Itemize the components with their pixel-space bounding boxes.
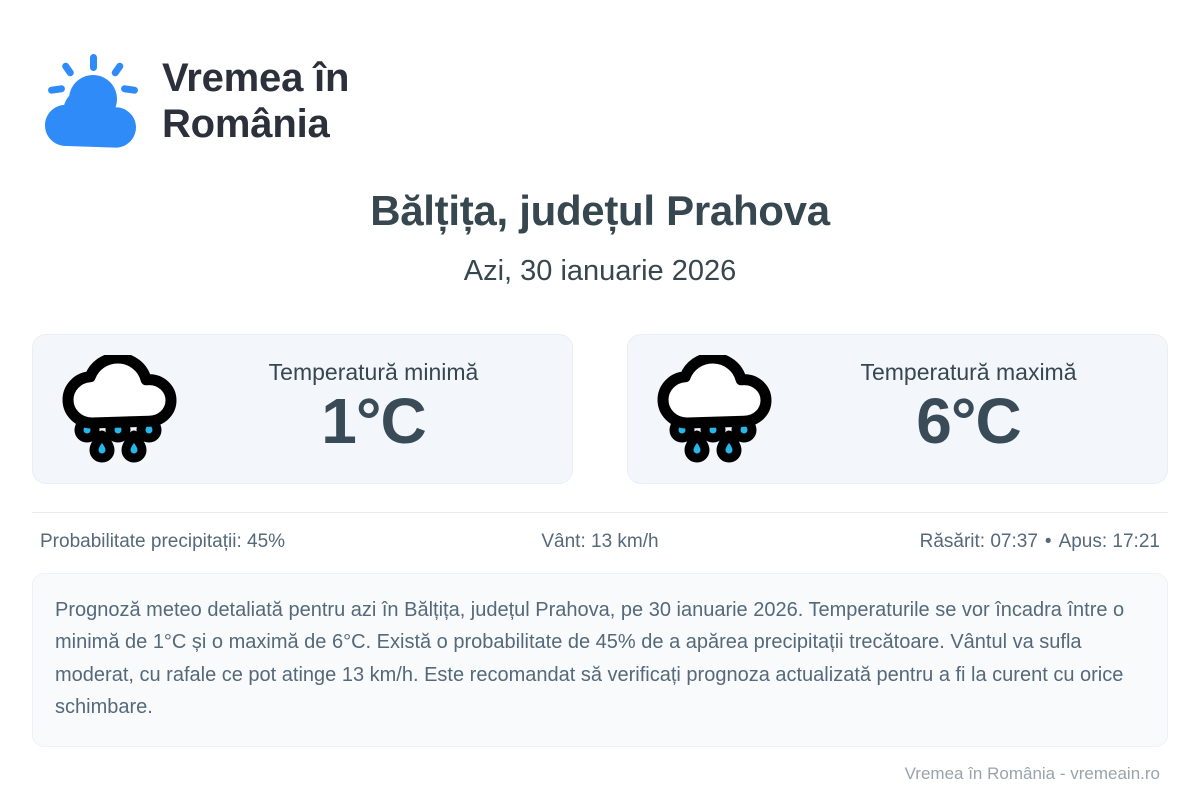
footer-credit: Vremea în România - vremeain.ro — [905, 764, 1160, 784]
page-subtitle: Azi, 30 ianuarie 2026 — [32, 256, 1168, 288]
title-block: Bălțița, județul Prahova Azi, 30 ianuari… — [32, 188, 1168, 288]
rain-cloud-icon — [654, 355, 772, 463]
sun-behind-cloud-icon — [40, 52, 144, 150]
site-header: Vremea în România — [32, 0, 1168, 150]
stat-sun: Răsărit: 07:37•Apus: 17:21 — [787, 531, 1160, 553]
page-title: Bălțița, județul Prahova — [32, 188, 1168, 234]
temperature-cards: Temperatură minimă 1°C Temper — [32, 334, 1168, 484]
forecast-description-text: Prognoză meteo detaliată pentru azi în B… — [55, 594, 1145, 724]
stat-wind: Vânt: 13 km/h — [413, 531, 786, 553]
stats-divider — [32, 512, 1168, 513]
forecast-description-panel: Prognoză meteo detaliată pentru azi în B… — [32, 573, 1168, 747]
card-value: 6°C — [916, 388, 1020, 455]
card-label: Temperatură maximă — [860, 359, 1076, 387]
brand-name: Vremea în România — [162, 55, 349, 148]
card-max-temperature: Temperatură maximă 6°C — [627, 334, 1168, 484]
weather-page: Vremea în România Bălțița, județul Praho… — [0, 0, 1200, 800]
stat-precipitation: Probabilitate precipitații: 45% — [40, 531, 413, 553]
card-body: Temperatură maximă 6°C — [790, 359, 1147, 456]
card-label: Temperatură minimă — [269, 359, 479, 387]
card-body: Temperatură minimă 1°C — [195, 359, 552, 456]
rain-cloud-icon — [59, 355, 177, 463]
stat-separator: • — [1038, 531, 1059, 552]
stats-row: Probabilitate precipitații: 45% Vânt: 13… — [32, 531, 1168, 553]
card-min-temperature: Temperatură minimă 1°C — [32, 334, 573, 484]
stat-sunrise: Răsărit: 07:37 — [920, 531, 1038, 552]
card-value: 1°C — [321, 388, 425, 455]
stat-sunset: Apus: 17:21 — [1059, 531, 1160, 552]
